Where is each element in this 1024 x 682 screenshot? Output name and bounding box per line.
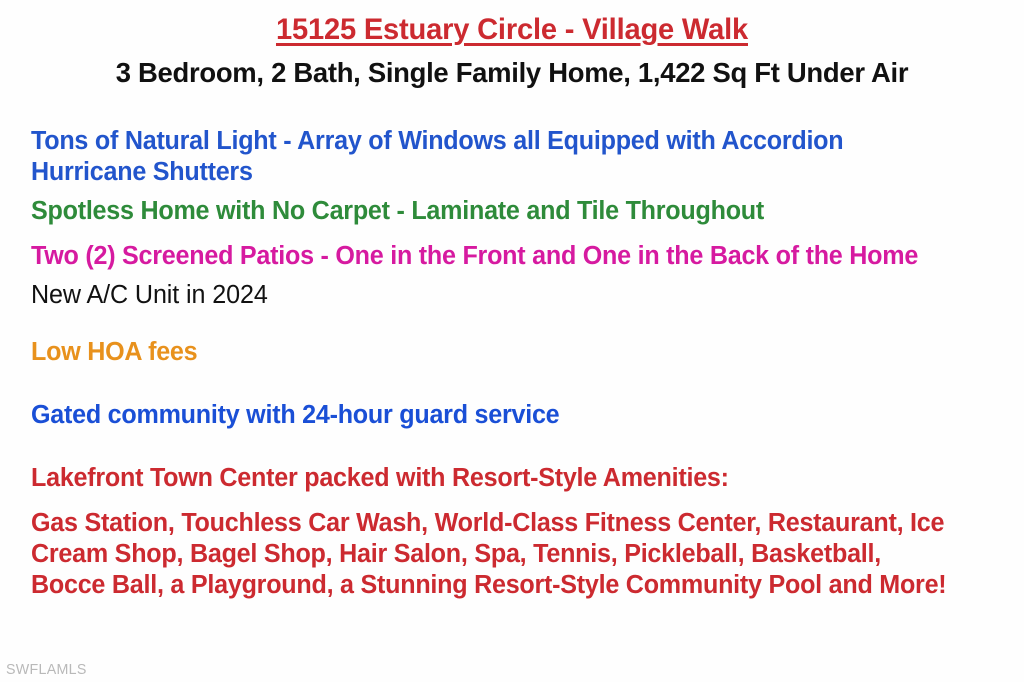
feature-flooring: Spotless Home with No Carpet - Laminate … [31, 196, 962, 227]
amenities-list: Gas Station, Touchless Car Wash, World-C… [31, 508, 962, 601]
feature-new-ac-unit: New A/C Unit in 2024 [31, 280, 962, 311]
mls-watermark: SWFLAMLS [6, 661, 87, 678]
feature-list: Tons of Natural Light - Array of Windows… [0, 126, 1024, 601]
listing-flyer: 15125 Estuary Circle - Village Walk 3 Be… [0, 0, 1024, 682]
feature-screened-patios: Two (2) Screened Patios - One in the Fro… [31, 241, 962, 272]
header: 15125 Estuary Circle - Village Walk 3 Be… [0, 0, 1024, 90]
feature-gated-community: Gated community with 24-hour guard servi… [31, 400, 962, 431]
page-title: 15125 Estuary Circle - Village Walk [15, 13, 1008, 47]
town-center-heading: Lakefront Town Center packed with Resort… [31, 463, 962, 494]
feature-low-hoa-fees: Low HOA fees [31, 337, 962, 368]
property-summary: 3 Bedroom, 2 Bath, Single Family Home, 1… [10, 56, 1014, 90]
feature-natural-light: Tons of Natural Light - Array of Windows… [31, 126, 962, 188]
